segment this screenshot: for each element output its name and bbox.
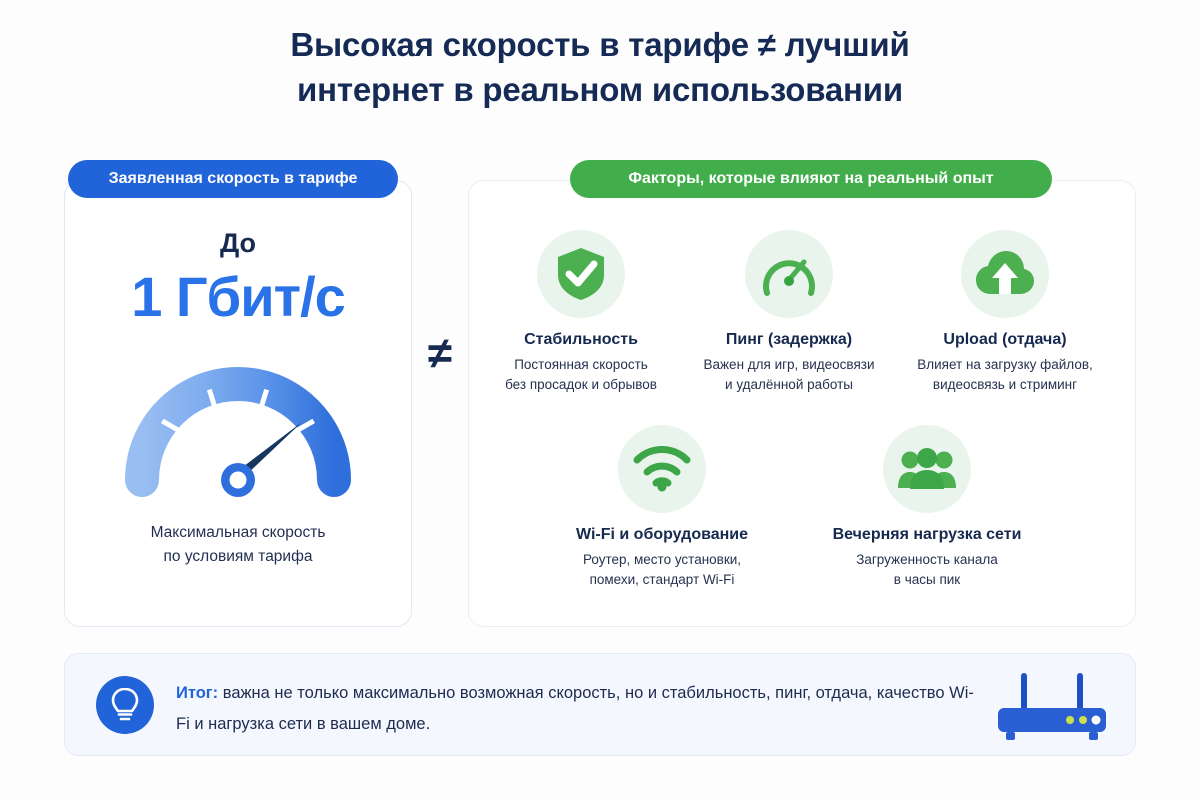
- users-group-icon: [898, 448, 956, 490]
- router-icon: [990, 672, 1114, 742]
- factor-desc-line-2: в часы пик: [822, 570, 1032, 590]
- speed-gauge: [118, 352, 358, 497]
- factor-desc: Влияет на загрузку файлов, видеосвязь и …: [900, 355, 1110, 395]
- speed-value: 1 Гбит/с: [64, 264, 412, 329]
- factors-badge-label: Факторы, которые влияют на реальный опыт: [628, 170, 993, 188]
- factor-desc: Загруженность канала в часы пик: [822, 550, 1032, 590]
- factor-desc-line-2: видеосвязь и стриминг: [900, 375, 1110, 395]
- declared-speed-badge: Заявленная скорость в тарифе: [68, 160, 398, 198]
- factor-title: Wi-Fi и оборудование: [557, 526, 767, 544]
- wifi-icon: [633, 446, 691, 492]
- summary-body: важна не только максимально возможная ск…: [176, 684, 974, 733]
- users-group-icon-wrap: [883, 425, 971, 513]
- factor-title: Стабильность: [476, 331, 686, 349]
- factors-badge: Факторы, которые влияют на реальный опыт: [570, 160, 1052, 198]
- factor-evening-load: Вечерняя нагрузка сети Загруженность кан…: [822, 425, 1032, 590]
- speedometer-icon-wrap: [745, 230, 833, 318]
- not-equal-symbol: ≠: [412, 332, 468, 376]
- wifi-icon-wrap: [618, 425, 706, 513]
- factor-desc: Важен для игр, видеосвязи и удалённой ра…: [684, 355, 894, 395]
- factor-desc-line-2: без просадок и обрывов: [476, 375, 686, 395]
- factor-desc-line-1: Постоянная скорость: [476, 355, 686, 375]
- factor-desc-line-1: Роутер, место установки,: [557, 550, 767, 570]
- speed-gauge-svg: [118, 352, 358, 497]
- factor-desc-line-1: Загруженность канала: [822, 550, 1032, 570]
- factor-upload: Upload (отдача) Влияет на загрузку файло…: [900, 230, 1110, 395]
- cloud-upload-icon: [975, 250, 1035, 298]
- shield-check-icon-wrap: [537, 230, 625, 318]
- factor-desc-line-2: помехи, стандарт Wi-Fi: [557, 570, 767, 590]
- factor-desc-line-1: Влияет на загрузку файлов,: [900, 355, 1110, 375]
- declared-speed-badge-label: Заявленная скорость в тарифе: [109, 170, 358, 188]
- factor-desc: Роутер, место установки, помехи, стандар…: [557, 550, 767, 590]
- factor-desc-line-2: и удалённой работы: [684, 375, 894, 395]
- lightbulb-icon: [110, 688, 140, 722]
- factor-wifi: Wi-Fi и оборудование Роутер, место устан…: [557, 425, 767, 590]
- factor-title: Вечерняя нагрузка сети: [822, 526, 1032, 544]
- gauge-caption: Максимальная скорость по условиям тарифа: [64, 521, 412, 569]
- gauge-hub-center: [230, 472, 247, 489]
- factor-title: Пинг (задержка): [684, 331, 894, 349]
- summary-text: Итог: важна не только максимально возмож…: [176, 678, 976, 740]
- summary-label: Итог:: [176, 684, 218, 702]
- factor-stability: Стабильность Постоянная скорость без про…: [476, 230, 686, 395]
- gauge-caption-line-1: Максимальная скорость: [64, 521, 412, 545]
- shield-check-icon: [555, 246, 607, 302]
- factor-ping: Пинг (задержка) Важен для игр, видеосвяз…: [684, 230, 894, 395]
- speedometer-icon: [760, 247, 818, 301]
- speed-prefix: До: [64, 228, 412, 259]
- router-icon-wrap: [990, 672, 1114, 742]
- factor-title: Upload (отдача): [900, 331, 1110, 349]
- cloud-upload-icon-wrap: [961, 230, 1049, 318]
- gauge-caption-line-2: по условиям тарифа: [64, 545, 412, 569]
- factor-desc: Постоянная скорость без просадок и обрыв…: [476, 355, 686, 395]
- lightbulb-icon-wrap: [96, 676, 154, 734]
- factor-desc-line-1: Важен для игр, видеосвязи: [684, 355, 894, 375]
